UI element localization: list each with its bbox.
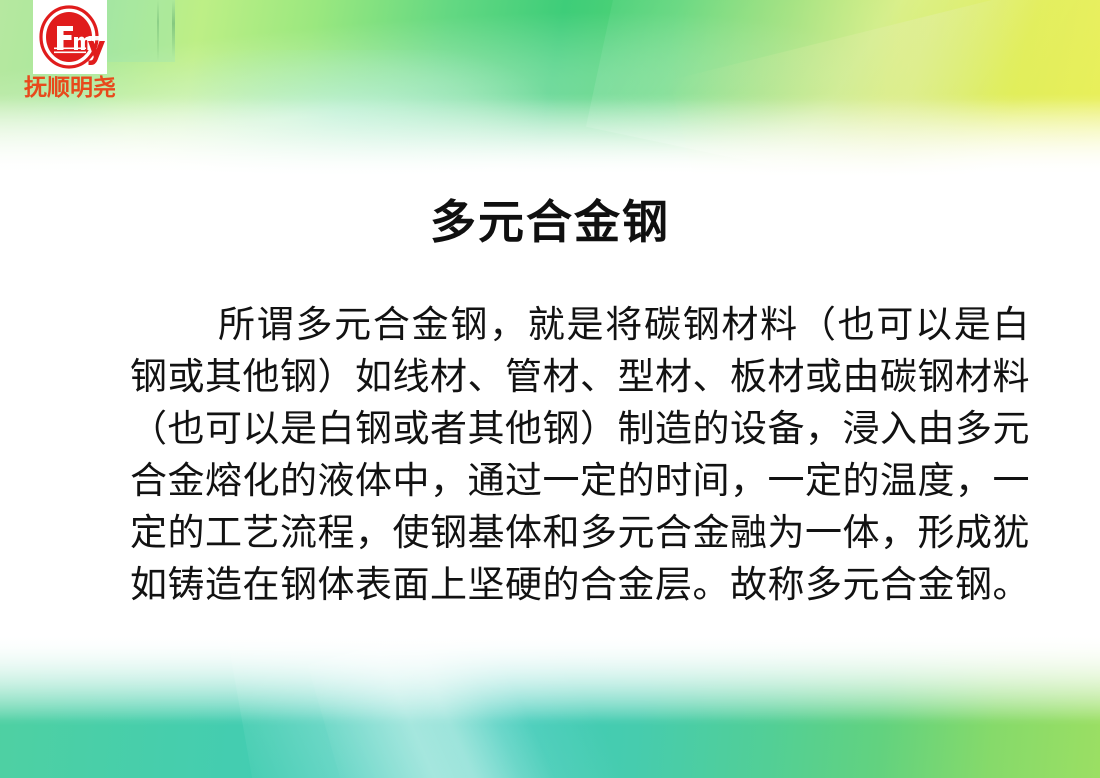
slide-body-paragraph: 所谓多元合金钢，就是将碳钢材料（也可以是白钢或其他钢）如线材、管材、型材、板材或… (130, 299, 1030, 611)
fmy-logo-icon (33, 0, 107, 74)
company-name-label: 抚顺明尧 (18, 76, 122, 101)
slide-canvas: 抚顺明尧 多元合金钢 所谓多元合金钢，就是将碳钢材料（也可以是白钢或其他钢）如线… (0, 0, 1100, 778)
slide-content: 多元合金钢 所谓多元合金钢，就是将碳钢材料（也可以是白钢或其他钢）如线材、管材、… (0, 0, 1100, 778)
slide-title: 多元合金钢 (0, 197, 1100, 248)
company-logo: 抚顺明尧 (18, 0, 128, 101)
